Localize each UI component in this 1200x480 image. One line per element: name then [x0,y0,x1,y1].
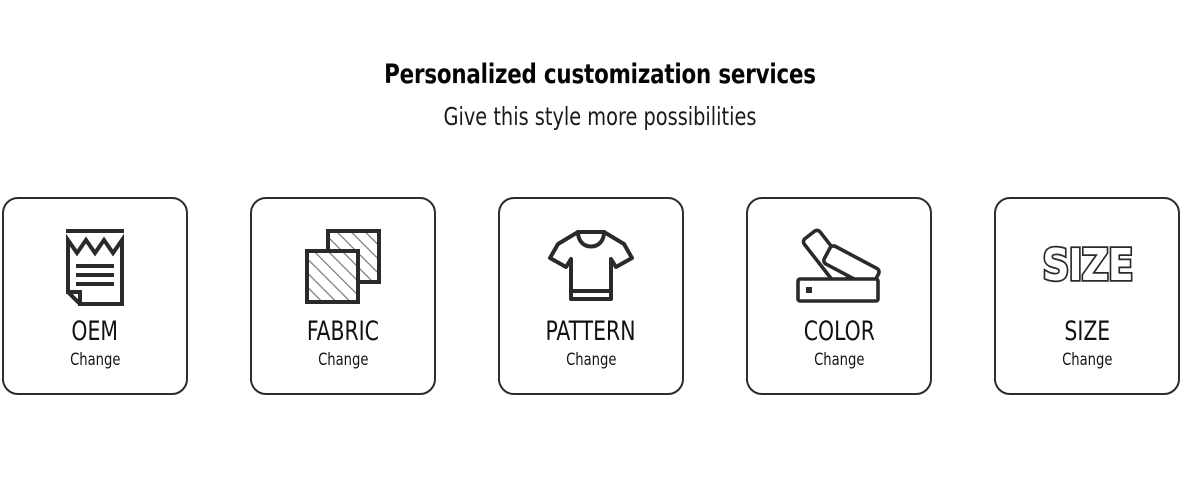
service-card-oem[interactable]: OEM Change [2,197,188,395]
card-label: OEM [72,318,119,346]
page-subtitle: Give this style more possibilities [84,102,1116,132]
card-sublabel[interactable]: Change [1062,351,1112,370]
certificate-document-icon [4,225,186,307]
header: Personalized customization services Give… [0,58,1200,132]
card-sublabel[interactable]: Change [70,351,120,370]
card-sublabel[interactable]: Change [814,351,864,370]
service-card-size[interactable]: SIZE SIZE Change [994,197,1180,395]
service-card-row: OEM Change [2,197,1198,397]
page-title: Personalized customization services [72,58,1128,92]
service-card-color[interactable]: COLOR Change [746,197,932,395]
card-label: SIZE [1064,318,1110,346]
fabric-swatches-icon [252,225,434,307]
service-card-pattern[interactable]: PATTERN Change [498,197,684,395]
card-sublabel[interactable]: Change [566,351,616,370]
color-swatch-fan-icon [748,225,930,307]
size-wordmark-icon: SIZE [996,225,1178,307]
card-sublabel[interactable]: Change [318,351,368,370]
card-label: FABRIC [307,318,379,346]
card-label: PATTERN [546,318,636,346]
tshirt-icon [500,225,682,307]
size-wordmark-text: SIZE [1042,243,1132,289]
card-label: COLOR [803,318,874,346]
customization-services-panel: Personalized customization services Give… [0,0,1200,480]
service-card-fabric[interactable]: FABRIC Change [250,197,436,395]
